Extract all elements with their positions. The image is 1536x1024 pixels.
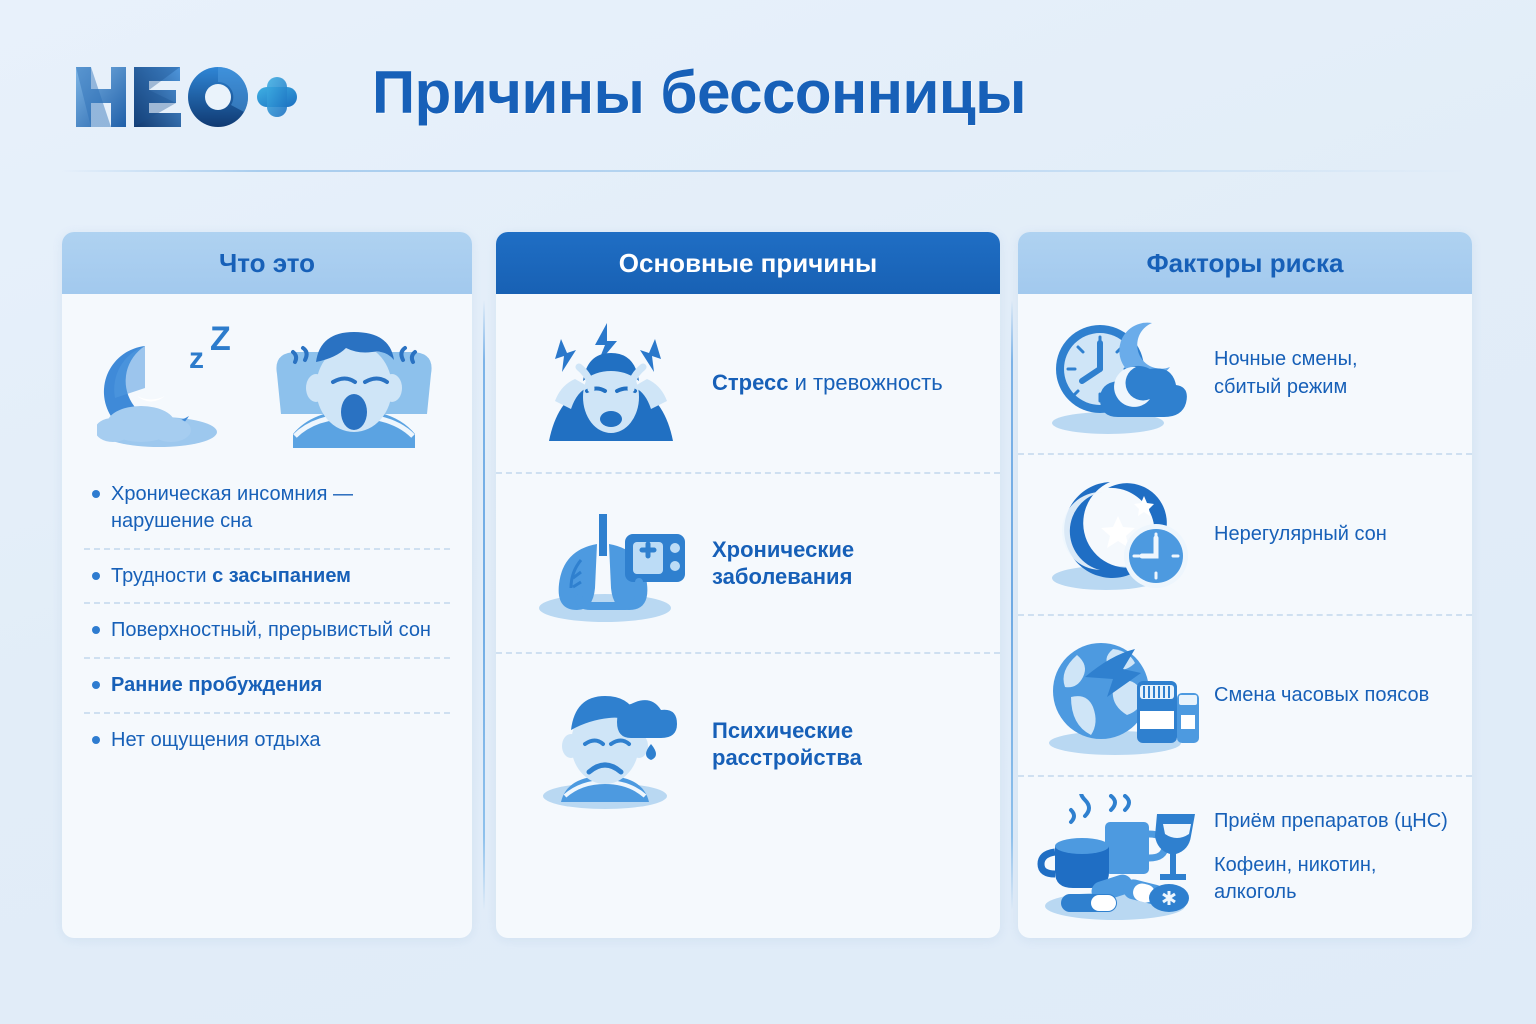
what-is-it-list: Хроническая инсомния — нарушение сна Тру… (62, 464, 472, 767)
bullet-dot-icon (92, 572, 100, 580)
cause-label: Психические расстройства (712, 717, 976, 772)
column-separator-2 (1011, 300, 1013, 910)
risk-item: Нерегулярный сон (1018, 455, 1472, 616)
lungs-bloodpressure-icon (516, 500, 706, 626)
sad-person-raincloud-icon (516, 678, 706, 810)
sleeping-person-icon (271, 318, 437, 450)
stressed-head-lightning-icon (516, 317, 706, 449)
card-body-risk-factors: Ночные смены, сбитый режим (1018, 294, 1472, 938)
list-item: Ранние пробуждения (84, 659, 450, 714)
bullet-dot-icon (92, 736, 100, 744)
risk-label: Приём препаратов (цНС) Кофеин, никотин, … (1214, 808, 1456, 907)
moon-zzz-icon: z Z (97, 320, 259, 448)
svg-text:Z: Z (210, 320, 231, 358)
card-body-what-is-it: z Z (62, 294, 472, 767)
list-item-text: Ранние пробуждения (111, 672, 322, 699)
card-header-main-causes: Основные причины (496, 232, 1000, 294)
risk-label: Смена часовых поясов (1214, 682, 1429, 710)
risk-item: Ночные смены, сбитый режим (1018, 294, 1472, 455)
card-header-what-is-it: Что это (62, 232, 472, 294)
list-item: Нет ощущения отдыха (84, 714, 450, 767)
card-header-risk-factors: Факторы риска (1018, 232, 1472, 294)
risk-label: Нерегулярный сон (1214, 521, 1387, 549)
clock-moon-cloud-icon (1034, 313, 1206, 435)
night-stars-clock-icon (1034, 474, 1206, 596)
card-what-is-it: Что это z Z (62, 232, 472, 938)
list-item: Трудности с засыпанием (84, 550, 450, 605)
cause-item: Стресс и тревожность (496, 294, 1000, 474)
cause-label: Хронические заболевания (712, 536, 976, 591)
svg-text:z: z (189, 342, 204, 375)
risk-item: Смена часовых поясов (1018, 616, 1472, 777)
list-item-text: Трудности с засыпанием (111, 563, 351, 590)
what-is-it-illustration: z Z (62, 294, 472, 464)
title-divider (60, 170, 1472, 172)
cause-label: Стресс и тревожность (712, 369, 943, 397)
list-item-text: Нет ощущения отдыха (111, 727, 321, 754)
neo-plus-logo-icon (72, 63, 298, 131)
cause-item: Хронические заболевания (496, 474, 1000, 654)
bullet-dot-icon (92, 681, 100, 689)
globe-airplane-pills-icon (1034, 635, 1206, 757)
bullet-dot-icon (92, 626, 100, 634)
coffee-wine-pills-icon (1034, 794, 1206, 922)
page-header: Причины бессонницы (0, 0, 1536, 172)
cause-item: Психические расстройства (496, 654, 1000, 834)
list-item: Хроническая инсомния — нарушение сна (84, 468, 450, 550)
list-item-text: Поверхностный, прерывистый сон (111, 617, 431, 644)
page-title: Причины бессонницы (372, 58, 1026, 127)
card-risk-factors: Факторы риска (1018, 232, 1472, 938)
list-item-text: Хроническая инсомния — нарушение сна (111, 481, 448, 535)
infographic-page: Причины бессонницы Что это z Z (0, 0, 1536, 1024)
card-body-main-causes: Стресс и тревожность (496, 294, 1000, 834)
risk-item: Приём препаратов (цНС) Кофеин, никотин, … (1018, 777, 1472, 938)
card-main-causes: Основные причины (496, 232, 1000, 938)
list-item: Поверхностный, прерывистый сон (84, 604, 450, 659)
brand-logo (72, 62, 302, 132)
bullet-dot-icon (92, 490, 100, 498)
column-separator-1 (483, 300, 485, 910)
risk-label: Ночные смены, сбитый режим (1214, 346, 1358, 401)
